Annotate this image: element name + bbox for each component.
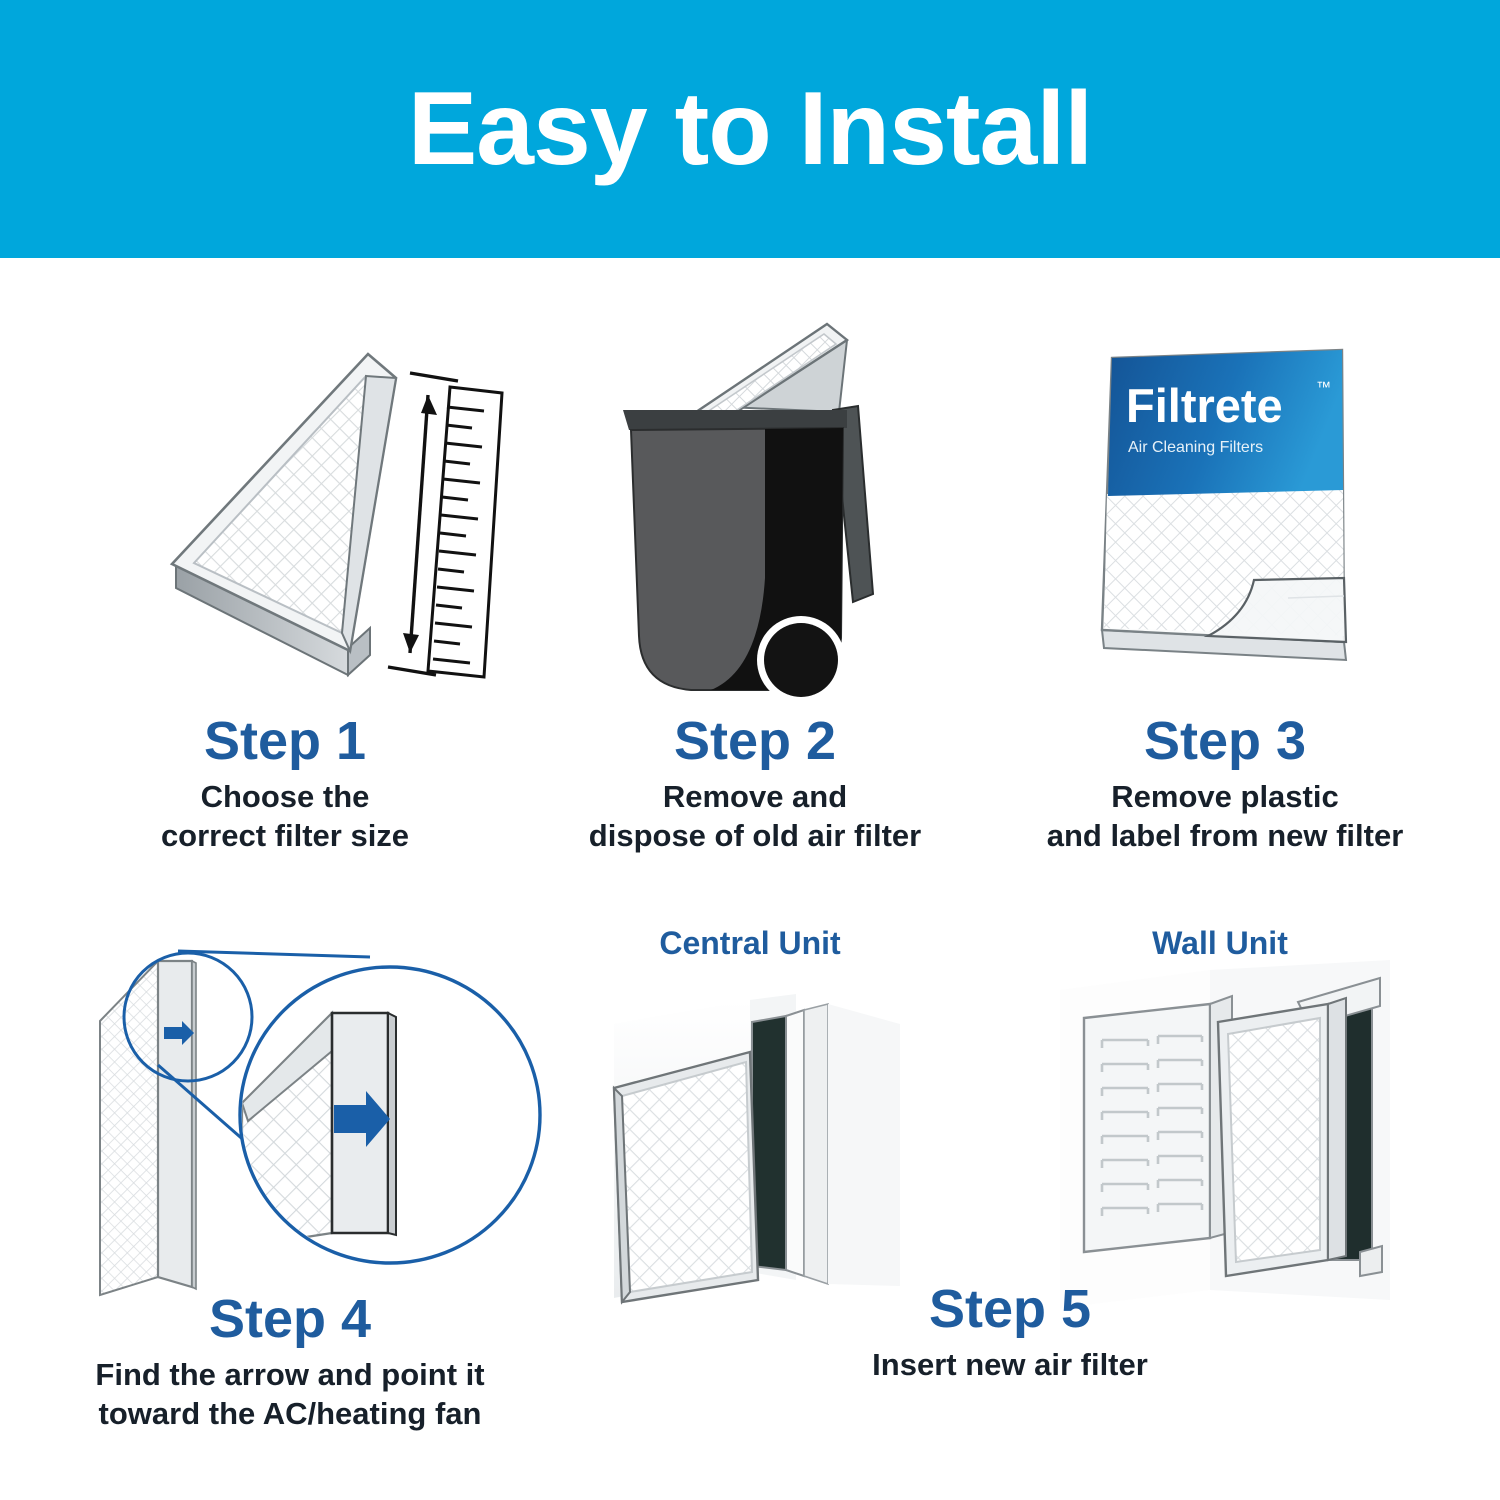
step-3-caption: Step 3 Remove plastic and label from new… — [1005, 712, 1445, 856]
step-5-title: Step 5 — [790, 1280, 1230, 1338]
step-4-title: Step 4 — [60, 1290, 520, 1348]
wall-unit-label: Wall Unit — [1060, 925, 1380, 962]
step-3-illustration: Filtrete ™ Air Cleaning Filters — [1088, 330, 1388, 680]
step-5-desc-line1: Insert new air filter — [790, 1346, 1230, 1385]
trash-bin-rim — [623, 410, 847, 430]
brand-tagline: Air Cleaning Filters — [1128, 439, 1263, 456]
air-filter-slab — [172, 354, 396, 675]
easy-to-install-infographic: Easy to Install — [0, 0, 1500, 1500]
filter-panel-central — [614, 1052, 758, 1302]
filter-panel-wall — [1218, 998, 1346, 1276]
step-4-desc-line1: Find the arrow and point it — [60, 1356, 520, 1395]
brand-wordmark: Filtrete — [1126, 379, 1283, 432]
step-2-desc-line2: dispose of old air filter — [535, 817, 975, 856]
magnifier-detail-circle — [240, 967, 540, 1263]
old-air-filter — [699, 324, 847, 422]
ruler-icon — [428, 387, 502, 677]
wall-surface-right — [828, 1004, 900, 1286]
step-2-title: Step 2 — [535, 712, 975, 770]
step-1-illustration — [110, 345, 530, 705]
trademark-symbol: ™ — [1316, 379, 1331, 396]
step-2-illustration — [615, 318, 925, 708]
step-4-desc-line2: toward the AC/heating fan — [60, 1395, 520, 1434]
wall-unit-illustration — [1060, 960, 1390, 1310]
step-1-desc-line2: correct filter size — [65, 817, 505, 856]
central-unit-illustration — [600, 980, 920, 1310]
step-3-desc-line1: Remove plastic — [1005, 778, 1445, 817]
trash-bin-wheel — [757, 616, 845, 704]
step-1-title: Step 1 — [65, 712, 505, 770]
page-title: Easy to Install — [408, 77, 1092, 181]
step-1-desc-line1: Choose the — [65, 778, 505, 817]
step-2-desc-line1: Remove and — [535, 778, 975, 817]
step-1-caption: Step 1 Choose the correct filter size — [65, 712, 505, 856]
step-4-illustration — [70, 915, 540, 1305]
step-2-caption: Step 2 Remove and dispose of old air fil… — [535, 712, 975, 856]
filter-edge-view — [100, 961, 196, 1295]
step-3-title: Step 3 — [1005, 712, 1445, 770]
louvered-vent-door — [1084, 996, 1232, 1252]
step-4-caption: Step 4 Find the arrow and point it towar… — [60, 1290, 520, 1434]
step-3-desc-line2: and label from new filter — [1005, 817, 1445, 856]
step-5-caption: Step 5 Insert new air filter — [790, 1280, 1230, 1385]
central-unit-label: Central Unit — [590, 925, 910, 962]
header-banner: Easy to Install — [0, 0, 1500, 258]
